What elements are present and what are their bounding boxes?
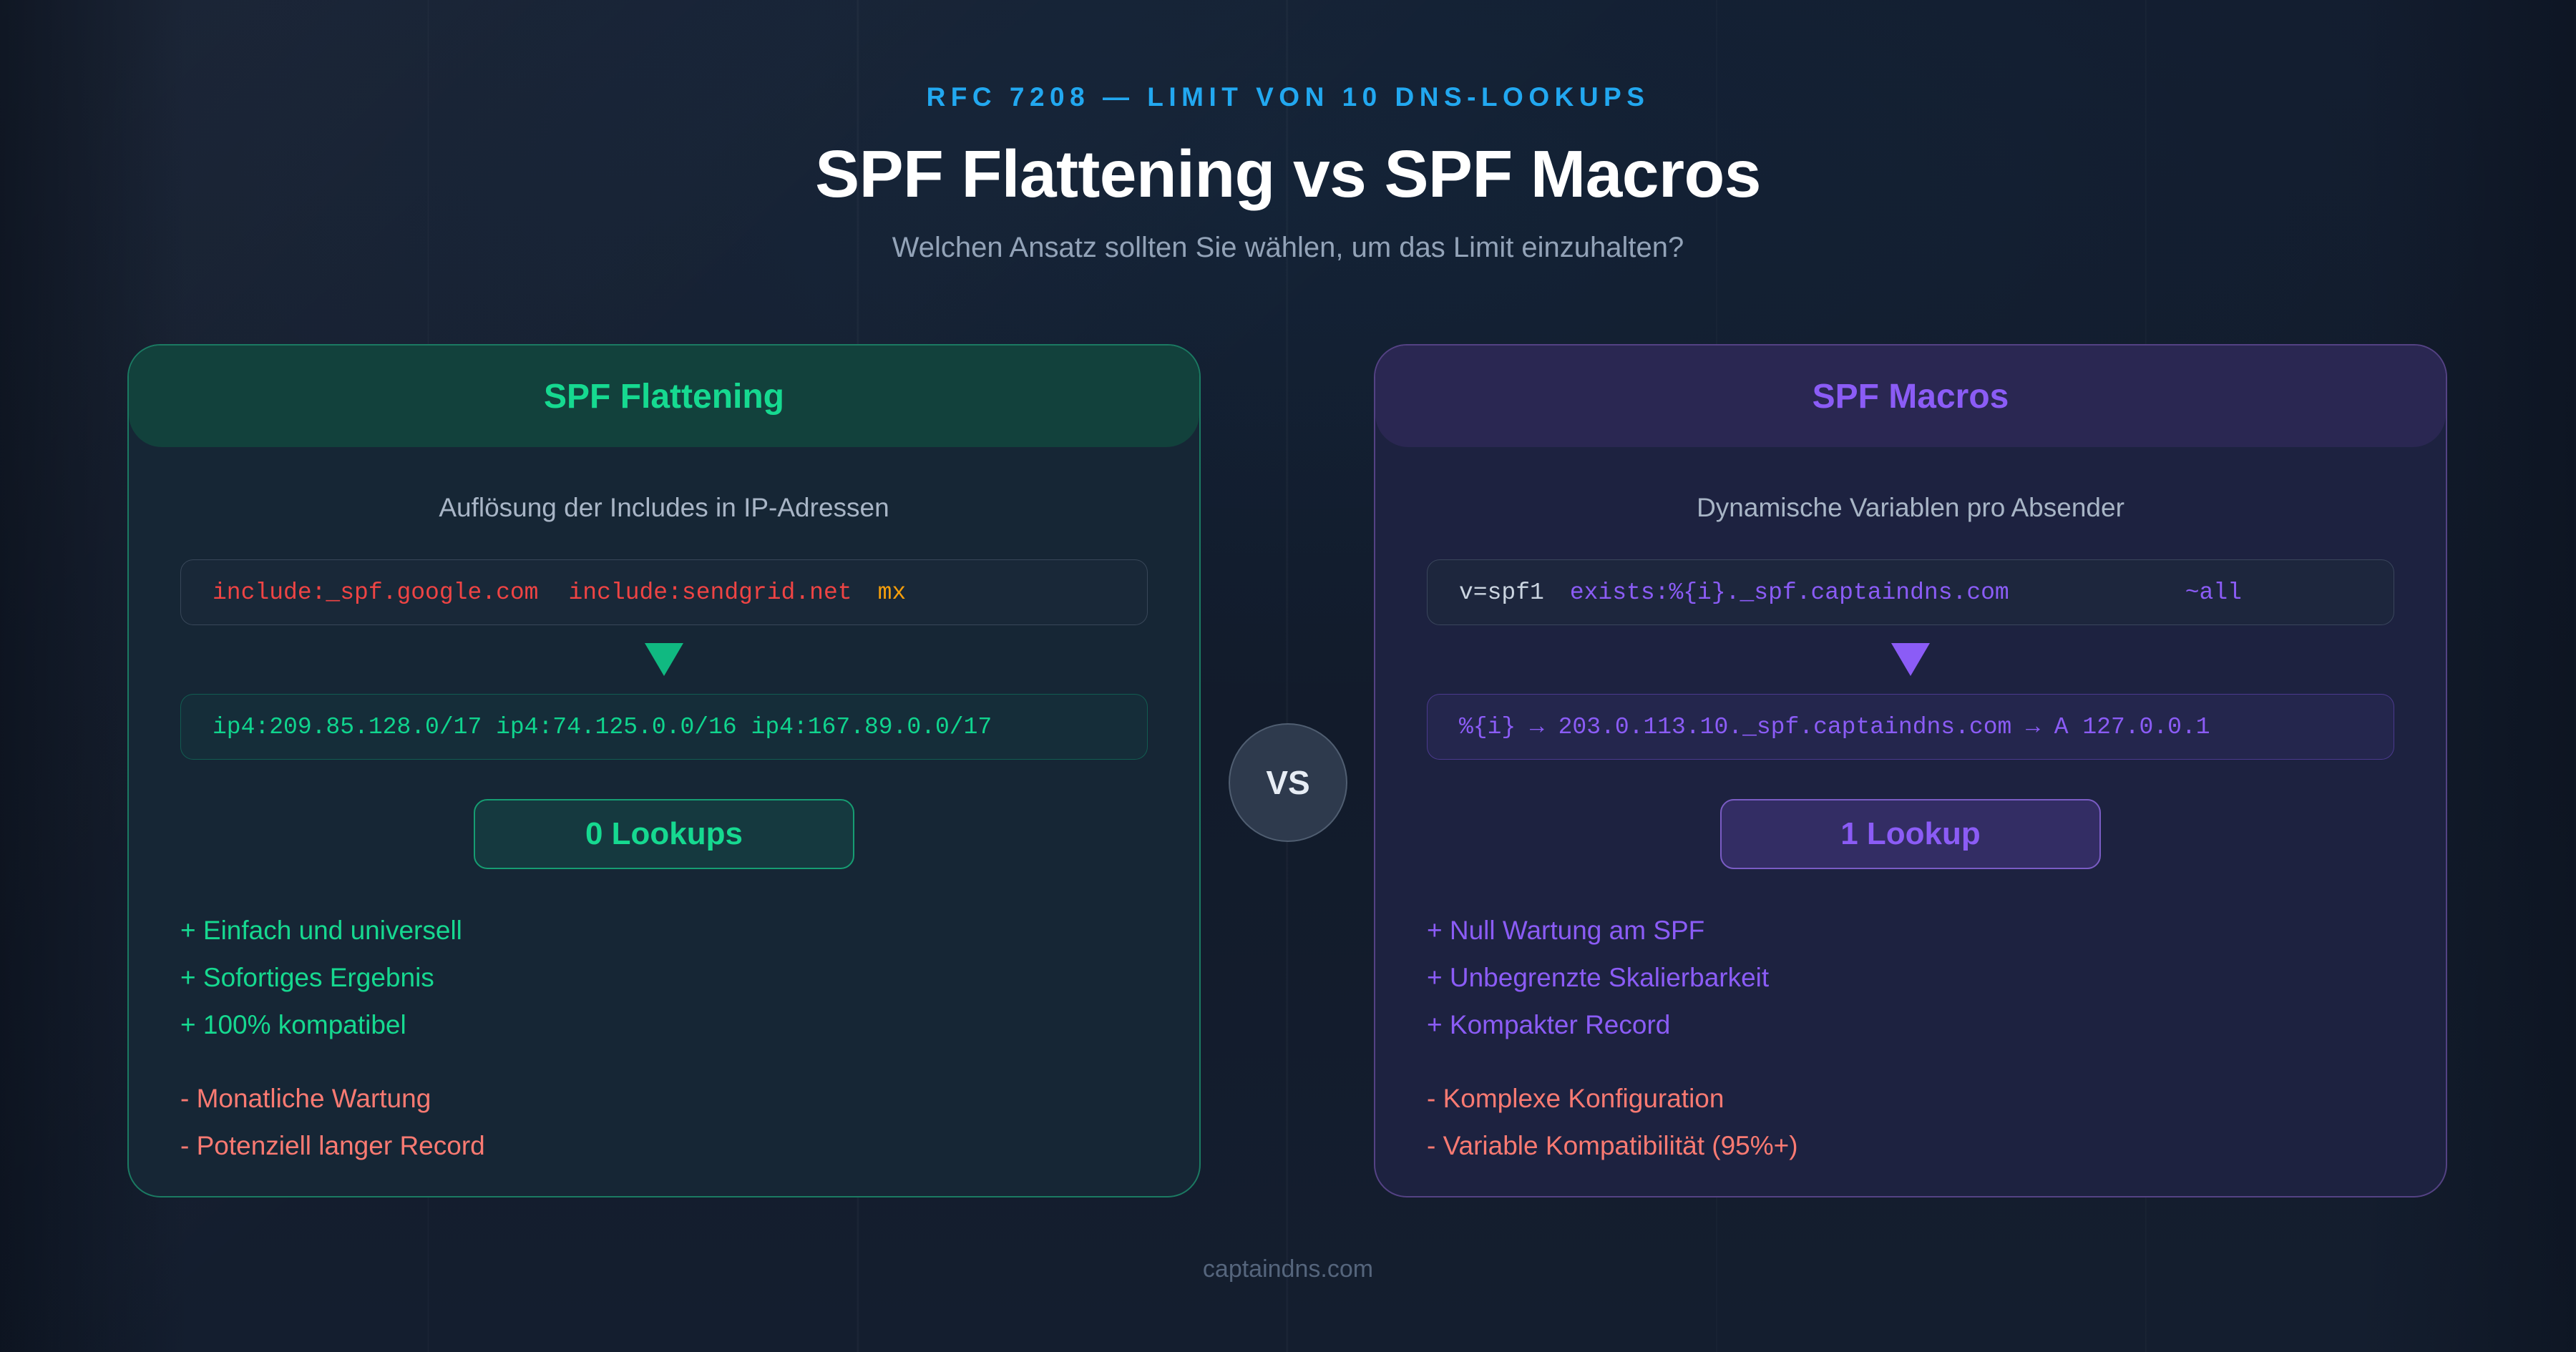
arrow-row-flattening [180,625,1148,694]
list-item: + Kompakter Record [1427,1011,2394,1038]
code-token-ip4-list: ip4:209.85.128.0/17 ip4:74.125.0.0/16 ip… [213,714,992,740]
list-item: + Sofortiges Ergebnis [180,964,1148,991]
arrow-down-triangle-icon [645,643,683,676]
cons-list-flattening: - Monatliche Wartung - Potenziell langer… [180,1085,1148,1159]
list-item: - Potenziell langer Record [180,1132,1148,1159]
code-box-flattening-before: include:_spf.google.com include:sendgrid… [180,559,1148,625]
vs-divider-badge: VS [1229,723,1347,842]
pros-list-macros: + Null Wartung am SPF + Unbegrenzte Skal… [1427,917,2394,1038]
code-box-macros-before: v=spf1 exists:%{i}._spf.captaindns.com ~… [1427,559,2394,625]
list-item: + 100% kompatibel [180,1011,1148,1038]
page-title: SPF Flattening vs SPF Macros [0,136,2576,212]
list-item: + Einfach und universell [180,917,1148,944]
code-token-version: v=spf1 [1459,579,1544,606]
code-token-exists-macro: exists:%{i}._spf.captaindns.com [1570,579,2009,606]
list-item: - Monatliche Wartung [180,1085,1148,1112]
card-title-flattening: SPF Flattening [544,377,784,416]
card-header-flattening: SPF Flattening [129,346,1199,447]
infographic-canvas: RFC 7208 — Limit von 10 DNS-Lookups SPF … [0,0,2576,1352]
card-title-macros: SPF Macros [1813,377,2009,416]
code-token-include-sendgrid: include:sendgrid.net [568,579,852,606]
list-item: - Variable Kompatibilität (95%+) [1427,1132,2394,1159]
card-body-macros: Dynamische Variablen pro Absender v=spf1… [1375,493,2446,1197]
card-body-flattening: Auflösung der Includes in IP-Adressen in… [129,493,1199,1197]
badge-row-flattening: 0 Lookups [180,799,1148,869]
list-item: - Komplexe Konfiguration [1427,1085,2394,1112]
footer-attribution: captaindns.com [0,1255,2576,1283]
card-spf-flattening: SPF Flattening Auflösung der Includes in… [127,344,1201,1197]
card-spf-macros: SPF Macros Dynamische Variablen pro Abse… [1374,344,2447,1197]
arrow-row-macros [1427,625,2394,694]
pros-list-flattening: + Einfach und universell + Sofortiges Er… [180,917,1148,1038]
header: RFC 7208 — Limit von 10 DNS-Lookups SPF … [0,0,2576,264]
lookup-badge-macros: 1 Lookup [1720,799,2101,869]
code-box-macros-after: %{i} → 203.0.113.10._spf.captaindns.com … [1427,694,2394,760]
code-token-macro-expansion: %{i} → 203.0.113.10._spf.captaindns.com … [1459,714,2210,740]
arrow-down-triangle-icon [1891,643,1930,676]
code-token-mx: mx [878,579,907,606]
eyebrow-label: RFC 7208 — Limit von 10 DNS-Lookups [0,82,2576,112]
code-token-softfail-all: ~all [2185,579,2242,606]
page-subtitle: Welchen Ansatz sollten Sie wählen, um da… [0,232,2576,264]
lookup-badge-flattening: 0 Lookups [474,799,854,869]
code-box-flattening-after: ip4:209.85.128.0/17 ip4:74.125.0.0/16 ip… [180,694,1148,760]
list-item: + Unbegrenzte Skalierbarkeit [1427,964,2394,991]
card-header-macros: SPF Macros [1375,346,2446,447]
card-description-flattening: Auflösung der Includes in IP-Adressen [180,493,1148,523]
list-item: + Null Wartung am SPF [1427,917,2394,944]
cons-list-macros: - Komplexe Konfiguration - Variable Komp… [1427,1085,2394,1159]
code-token-include-google: include:_spf.google.com [213,579,538,606]
card-description-macros: Dynamische Variablen pro Absender [1427,493,2394,523]
badge-row-macros: 1 Lookup [1427,799,2394,869]
